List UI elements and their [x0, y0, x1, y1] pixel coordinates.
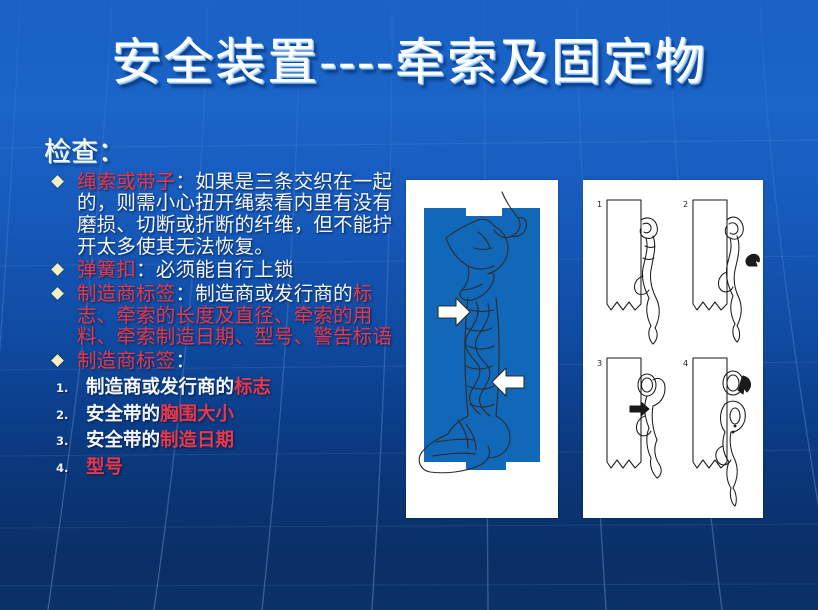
diamond-bullet-icon: [51, 263, 64, 276]
diamond-bullet-icon: [51, 287, 64, 300]
text-run-red: 型号: [86, 457, 123, 478]
section-heading: 检查：: [44, 138, 404, 168]
text-run-white: ：: [176, 349, 196, 372]
list-number: 3.: [56, 435, 68, 448]
text-run-red: 胸围大小: [160, 404, 234, 425]
text-run-white: 安全带的: [86, 404, 160, 425]
panel-label-4: 4: [683, 359, 688, 368]
slide-title: 安全装置----牵索及固定物: [111, 36, 707, 89]
diamond-bullet-icon: [51, 175, 64, 188]
slide-canvas: 安全装置----牵索及固定物 检查： 绳索或带子：如果是三条交织在一起的，则需小…: [0, 0, 818, 610]
carabiner-steps-illustration: 1 2: [583, 180, 763, 518]
content-body: 检查： 绳索或带子：如果是三条交织在一起的，则需小心扭开绳索看内里有没有磨损、切…: [44, 138, 404, 483]
bullet-list: 绳索或带子：如果是三条交织在一起的，则需小心扭开绳索看内里有没有磨损、切断或折断…: [44, 171, 404, 372]
bullet-item: 弹簧扣：必须能自行上锁: [44, 259, 404, 281]
text-run-red: 制造商标签: [77, 349, 176, 372]
rope-untwist-illustration: [406, 180, 558, 518]
panel-label-3: 3: [597, 359, 602, 368]
panel-label-1: 1: [597, 200, 602, 209]
text-run-red: 制造日期: [160, 430, 234, 451]
numbered-item: 1.制造商或发行商的标志: [44, 377, 404, 398]
numbered-item: 3.安全带的制造日期: [44, 430, 404, 451]
bullet-item: 绳索或带子：如果是三条交织在一起的，则需小心扭开绳索看内里有没有磨损、切断或折断…: [44, 171, 404, 258]
numbered-list: 1.制造商或发行商的标志2.安全带的胸围大小3.安全带的制造日期4.型号: [44, 377, 404, 478]
text-run-red: 标志: [234, 377, 271, 398]
text-run-red: 绳索或带子: [77, 170, 176, 193]
list-number: 1.: [56, 382, 68, 395]
text-run-white: 安全带的: [86, 430, 160, 451]
panel-label-2: 2: [683, 200, 688, 209]
diamond-bullet-icon: [51, 354, 64, 367]
text-run-red: 制造商标签: [77, 282, 176, 305]
text-run-white: 制造商或发行商的: [86, 377, 234, 398]
numbered-item: 2.安全带的胸围大小: [44, 404, 404, 425]
slide-title-container: 安全装置----牵索及固定物: [0, 36, 818, 89]
list-number: 4.: [56, 462, 68, 475]
numbered-item: 4.型号: [44, 457, 404, 478]
text-run-red: 弹簧扣: [77, 258, 136, 281]
text-run-white: ：制造商或发行商的: [176, 282, 353, 305]
list-number: 2.: [56, 409, 68, 422]
text-run-white: ：必须能自行上锁: [136, 258, 294, 281]
bullet-item: 制造商标签：: [44, 350, 404, 372]
bullet-item: 制造商标签：制造商或发行商的标志、牵索的长度及直径、牵索的用料、牵索制造日期、型…: [44, 283, 404, 348]
